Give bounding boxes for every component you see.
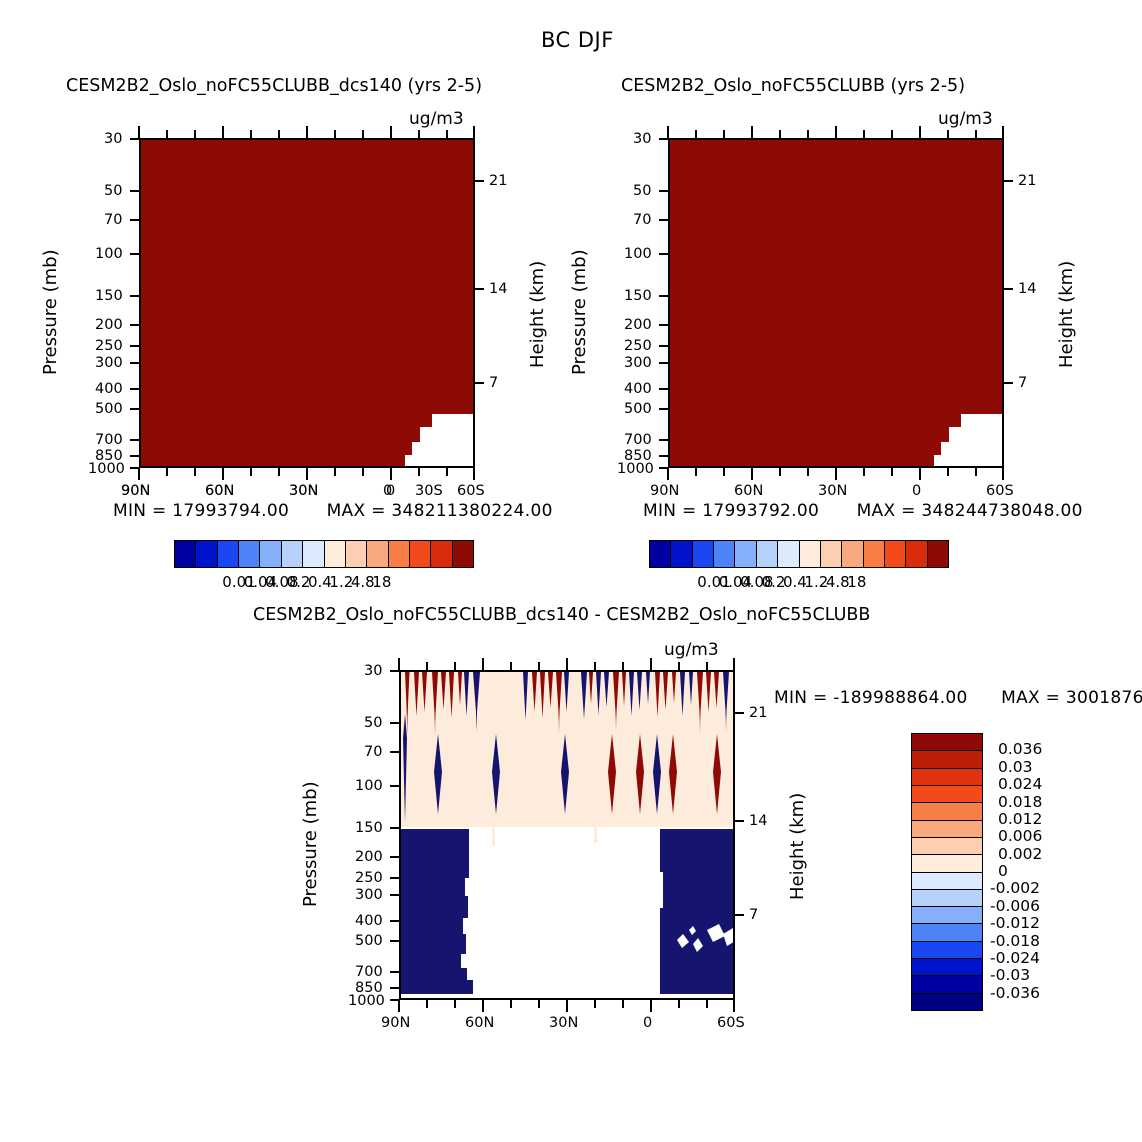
colorbar-tick-label: 0.012 (998, 810, 1042, 828)
colorbar-cell (714, 541, 735, 567)
panel-title-control: CESM2B2_Oslo_noFC55CLUBB (yrs 2-5) (621, 76, 965, 96)
contour-slab-south (401, 672, 735, 1000)
colorbar-cell (912, 734, 982, 751)
colorbar-cell (885, 541, 906, 567)
colorbar-cell (842, 541, 863, 567)
colorbar-tick-label: -0.024 (990, 949, 1040, 967)
colorbar-cell (367, 541, 388, 567)
colorbar-cell (757, 541, 778, 567)
panel-title-test: CESM2B2_Oslo_noFC55CLUBB_dcs140 (yrs 2-5… (66, 76, 482, 96)
plot-area-control (668, 138, 1004, 468)
plot-area-test (139, 138, 475, 468)
minmax-test: MIN = 17993794.00 MAX = 348211380224.00 (113, 501, 553, 521)
colorbar-cell (912, 751, 982, 768)
colorbar-cell (928, 541, 948, 567)
colorbar-cell (912, 994, 982, 1010)
min-label-difference: MIN = -189988864.00 (774, 688, 968, 708)
colorbar-tick-label: 0.2 (287, 573, 311, 591)
colorbar-cell (260, 541, 281, 567)
colorbar-cell (282, 541, 303, 567)
max-label-test: MAX = 348211380224.00 (327, 501, 553, 521)
y-axis-label-difference: Pressure (mb) (300, 781, 321, 907)
colorbar-cell (912, 786, 982, 803)
page-title: BC DJF (541, 28, 614, 52)
colorbar-cell (912, 873, 982, 890)
colorbar-cell (650, 541, 671, 567)
colorbar-cell (303, 541, 324, 567)
colorbar-cell (912, 855, 982, 872)
colorbar-cell (410, 541, 431, 567)
colorbar-cell (864, 541, 885, 567)
panel-units-difference: ug/m3 (664, 640, 719, 660)
colorbar-tick-label: 18 (372, 573, 391, 591)
colorbar-cell (912, 907, 982, 924)
plot-area-difference (399, 670, 735, 1000)
colorbar-cell (389, 541, 410, 567)
colorbar-tick-label: 0.018 (998, 793, 1042, 811)
panel-units-test: ug/m3 (409, 109, 464, 129)
colorbar-tick-label: 0.036 (998, 740, 1042, 758)
max-label-difference: MAX = 30018764 (1001, 688, 1142, 708)
colorbar-cell (821, 541, 842, 567)
colorbar-cell (218, 541, 239, 567)
colorbar-cell (912, 924, 982, 941)
panel-title-difference: CESM2B2_Oslo_noFC55CLUBB_dcs140 - CESM2B… (253, 605, 870, 625)
colorbar-cell (453, 541, 473, 567)
colorbar-tick-label: 0.006 (998, 827, 1042, 845)
colorbar-tick-label: 4.8 (351, 573, 375, 591)
y2-axis-label-control: Height (km) (1056, 261, 1077, 368)
colorbar-cell (239, 541, 260, 567)
min-label-control: MIN = 17993792.00 (643, 501, 819, 521)
y-axis-label-control: Pressure (mb) (569, 249, 590, 375)
colorbar-tick-label: 18 (847, 573, 866, 591)
missing-data-wedge (141, 140, 473, 466)
colorbar-cell (912, 838, 982, 855)
colorbar-cell (912, 959, 982, 976)
missing-data-wedge (670, 140, 1002, 466)
colorbar-cell (735, 541, 756, 567)
colorbar-tick-label: 0.002 (998, 845, 1042, 863)
colorbar-cell (693, 541, 714, 567)
panel-units-control: ug/m3 (938, 109, 993, 129)
colorbar-cell (196, 541, 217, 567)
colorbar-tick-label: -0.036 (990, 984, 1040, 1002)
colorbar-cell (912, 976, 982, 993)
y2-axis-label-difference: Height (km) (787, 793, 808, 900)
colorbar-cell (912, 890, 982, 907)
colorbar-cell (906, 541, 927, 567)
colorbar-cell (175, 541, 196, 567)
min-label-test: MIN = 17993794.00 (113, 501, 289, 521)
minmax-control: MIN = 17993792.00 MAX = 348244738048.00 (643, 501, 1083, 521)
y-axis-label-test: Pressure (mb) (40, 249, 61, 375)
colorbar-tick-label: -0.018 (990, 932, 1040, 950)
colorbar-absolute-left-labels: 0.010.040.080.20.41.24.818 (174, 573, 474, 595)
max-label-control: MAX = 348244738048.00 (857, 501, 1083, 521)
colorbar-tick-label: 1.2 (804, 573, 828, 591)
colorbar-cell (912, 942, 982, 959)
colorbar-tick-label: 0.4 (783, 573, 807, 591)
colorbar-cell (912, 769, 982, 786)
colorbar-cell (912, 803, 982, 820)
colorbar-tick-label: -0.03 (990, 966, 1030, 984)
colorbar-cell (671, 541, 692, 567)
colorbar-difference[interactable] (911, 733, 983, 1011)
colorbar-tick-label: -0.002 (990, 879, 1040, 897)
colorbar-absolute-right-labels: 0.010.040.080.20.41.24.818 (649, 573, 949, 595)
colorbar-cell (778, 541, 799, 567)
y2-axis-label-test: Height (km) (527, 261, 548, 368)
colorbar-cell (912, 821, 982, 838)
colorbar-absolute-right[interactable] (649, 540, 949, 568)
colorbar-cell (325, 541, 346, 567)
minmax-difference: MIN = -189988864.00 MAX = 30018764 (774, 688, 1142, 708)
colorbar-cell (431, 541, 452, 567)
colorbar-cell (346, 541, 367, 567)
colorbar-tick-label: 0.4 (308, 573, 332, 591)
colorbar-tick-label: 0.03 (998, 758, 1033, 776)
colorbar-tick-label: 0.2 (762, 573, 786, 591)
colorbar-tick-label: 0 (998, 862, 1008, 880)
colorbar-tick-label: -0.006 (990, 897, 1040, 915)
colorbar-tick-label: 1.2 (329, 573, 353, 591)
colorbar-tick-label: 4.8 (826, 573, 850, 591)
colorbar-tick-label: -0.012 (990, 914, 1040, 932)
colorbar-absolute-left[interactable] (174, 540, 474, 568)
colorbar-difference-labels: 0.0360.030.0240.0180.0120.0060.0020-0.00… (990, 733, 1080, 1011)
colorbar-tick-label: 0.024 (998, 775, 1042, 793)
colorbar-cell (800, 541, 821, 567)
